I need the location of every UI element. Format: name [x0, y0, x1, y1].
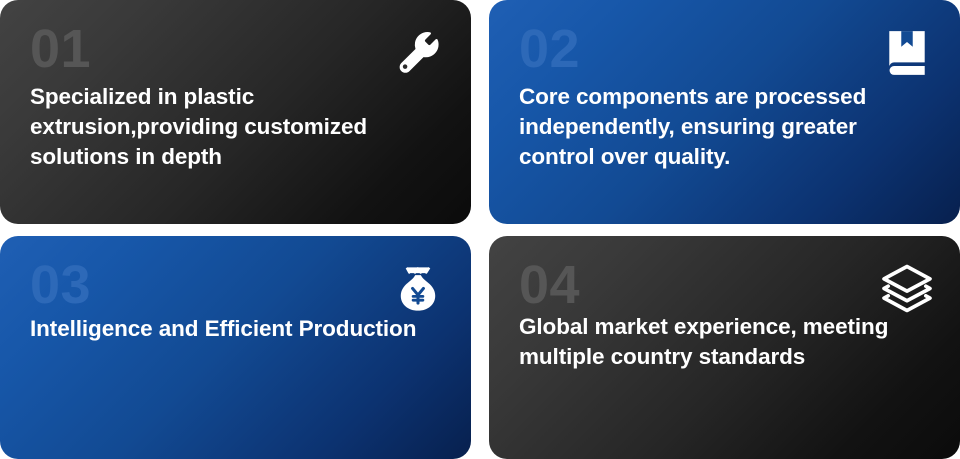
- book-bookmark-icon: [880, 26, 934, 80]
- card-number: 01: [30, 22, 445, 76]
- wrench-icon: [391, 26, 445, 80]
- card-number: 04: [519, 258, 934, 312]
- card-number: 03: [30, 258, 445, 312]
- feature-card-03[interactable]: 03 Intelligence and Efficient Production: [0, 236, 471, 459]
- card-text: Global market experience, meeting multip…: [519, 312, 934, 372]
- feature-card-grid: 01 Specialized in plastic extrusion,prov…: [0, 0, 960, 459]
- money-bag-yen-icon: [391, 262, 445, 316]
- card-text: Intelligence and Efficient Production: [30, 314, 430, 344]
- card-text: Core components are processed independen…: [519, 82, 934, 172]
- card-text: Specialized in plastic extrusion,providi…: [30, 82, 445, 172]
- feature-card-02[interactable]: 02 Core components are processed indepen…: [489, 0, 960, 224]
- feature-card-04[interactable]: 04 Global market experience, meeting mul…: [489, 236, 960, 459]
- layers-stack-icon: [880, 262, 934, 316]
- feature-card-01[interactable]: 01 Specialized in plastic extrusion,prov…: [0, 0, 471, 224]
- card-number: 02: [519, 22, 934, 76]
